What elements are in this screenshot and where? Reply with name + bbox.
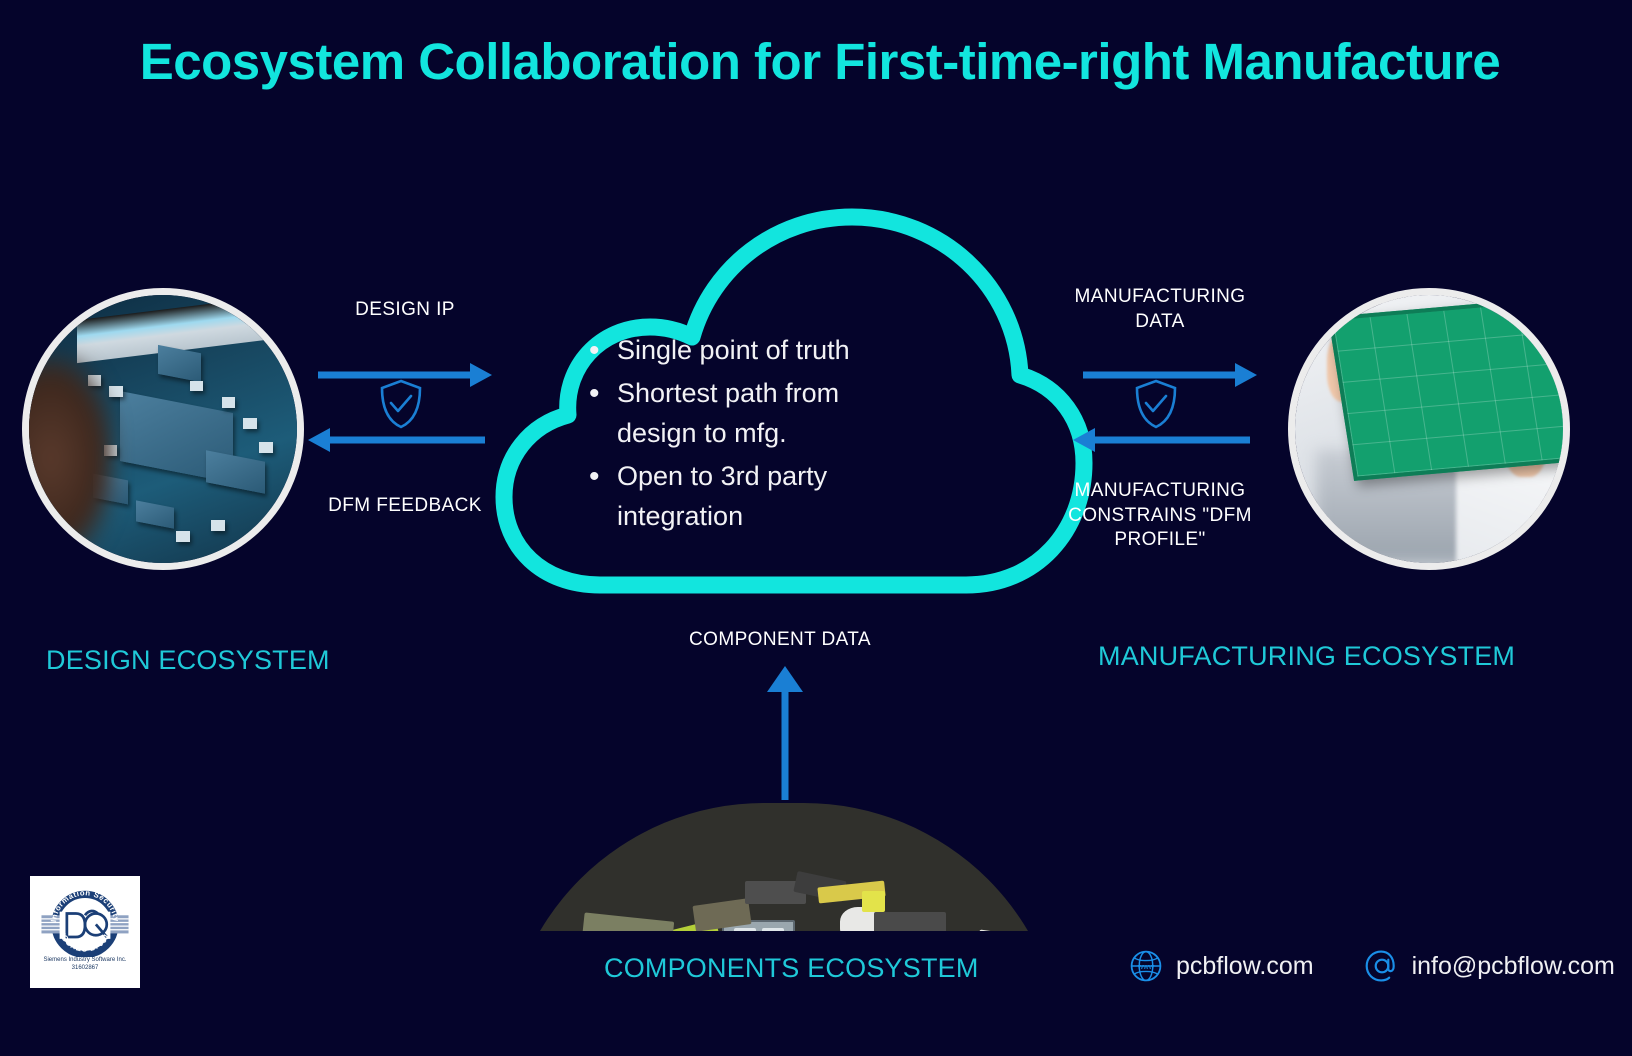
shield-check-icon [1133,378,1179,430]
at-sign-icon [1364,948,1400,984]
ecosystem-label-manufacturing: MANUFACTURING ECOSYSTEM [1098,641,1515,672]
flow-label-dfm-feedback: DFM FEEDBACK [300,494,510,519]
ecosystem-label-components: COMPONENTS ECOSYSTEM [604,953,979,984]
cloud-bullet: Open to 3rd party integration [585,456,915,537]
flow-label-component-data: COMPONENT DATA [655,628,905,653]
globe-www-icon: www [1128,948,1164,984]
components-ecosystem-photo [504,803,1064,931]
shield-check-icon [378,378,424,430]
contact-website[interactable]: www pcbflow.com [1128,948,1314,984]
cloud-bullet: Shortest path from design to mfg. [585,373,915,454]
iso-certification-badge: Information Security ISO/IEC 27001 Sieme… [30,876,140,988]
ecosystem-label-design: DESIGN ECOSYSTEM [46,645,330,676]
flow-label-design-ip: DESIGN IP [300,298,510,323]
contact-email[interactable]: info@pcbflow.com [1364,948,1615,984]
dqs-iso-seal-icon: Information Security ISO/IEC 27001 [39,879,131,957]
contact-website-text: pcbflow.com [1176,952,1314,981]
infographic-canvas: Ecosystem Collaboration for First-time-r… [0,0,1632,1056]
page-title: Ecosystem Collaboration for First-time-r… [120,28,1520,97]
contact-email-text: info@pcbflow.com [1412,952,1615,981]
badge-caption-number: 31602867 [72,965,99,973]
badge-caption-company: Siemens Industry Software Inc. [43,957,126,965]
component-flow-arrow [750,660,820,800]
flow-label-manufacturing-data: MANUFACTURING DATA [1055,285,1265,334]
contact-bar: www pcbflow.com info@pcbflow.com [1128,948,1615,984]
flow-label-manufacturing-constrains: MANUFACTURING CONSTRAINS "DFM PROFILE" [1055,479,1265,553]
cloud-benefits-list: Single point of truth Shortest path from… [585,330,915,539]
manufacturing-ecosystem-photo [1288,288,1570,570]
central-cloud: Single point of truth Shortest path from… [480,195,1100,615]
cloud-bullet: Single point of truth [585,330,915,371]
design-ecosystem-photo [22,288,304,570]
svg-text:www: www [1137,962,1155,971]
